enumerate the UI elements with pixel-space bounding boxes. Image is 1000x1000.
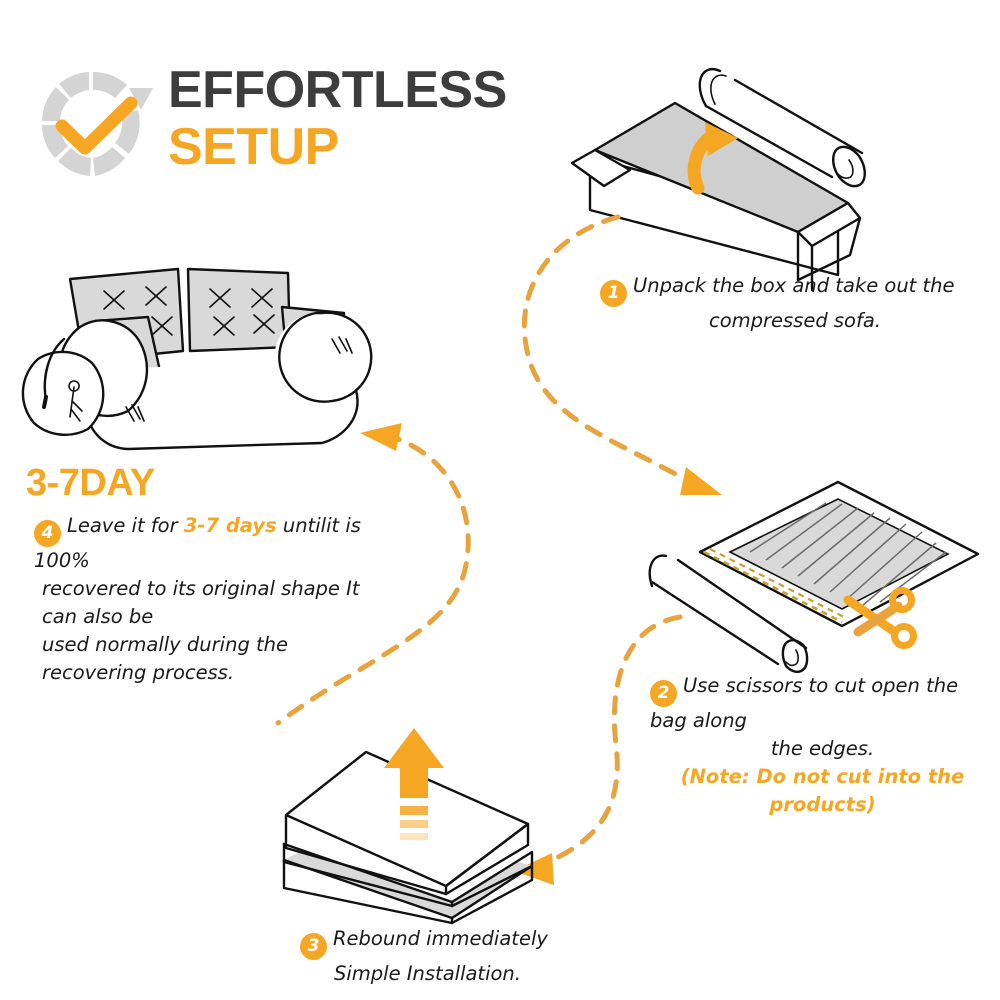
duration-heading: 3-7DAY — [26, 462, 155, 505]
expanding-cushion-illustration — [270, 720, 570, 935]
step-4-line-2: recovered to its original shape It can a… — [34, 575, 394, 631]
refresh-check-circle-icon — [28, 58, 158, 190]
step-3-line-2: Simple Installation. — [300, 960, 580, 988]
title-line-setup: SETUP — [168, 118, 588, 176]
page-title: EFFORTLESS SETUP — [168, 62, 588, 176]
infographic-page: EFFORTLESS SETUP — [0, 0, 1000, 1000]
sofa-back-cushion-right — [188, 269, 290, 351]
step-1-badge: 1 — [600, 280, 627, 307]
step-3-text: 3Rebound immediately Simple Installation… — [300, 925, 580, 988]
step-1-line-1: Unpack the box and take out the — [633, 274, 955, 297]
step-4-line-3: used normally during the recovering proc… — [34, 631, 394, 687]
arrow-step1-to-step2 — [490, 195, 780, 515]
step-4-badge: 4 — [34, 520, 61, 547]
recovered-sofa-illustration — [20, 255, 410, 460]
step-3-badge: 3 — [300, 933, 327, 960]
step-1-line-2: compressed sofa. — [600, 307, 990, 335]
sofa-armrest-right — [274, 313, 371, 402]
title-line-effortless: EFFORTLESS — [168, 62, 588, 118]
step-4-text: 4Leave it for 3-7 days untilit is 100% r… — [34, 512, 394, 687]
step-3-line-1: Rebound immediately — [333, 927, 548, 950]
step-1-text: 1Unpack the box and take out the compres… — [600, 272, 990, 335]
step-4-highlight: 3-7 days — [184, 514, 277, 537]
sofa-armrest-left-lower — [23, 352, 103, 435]
step-4-line-1-a: Leave it for — [67, 514, 184, 537]
